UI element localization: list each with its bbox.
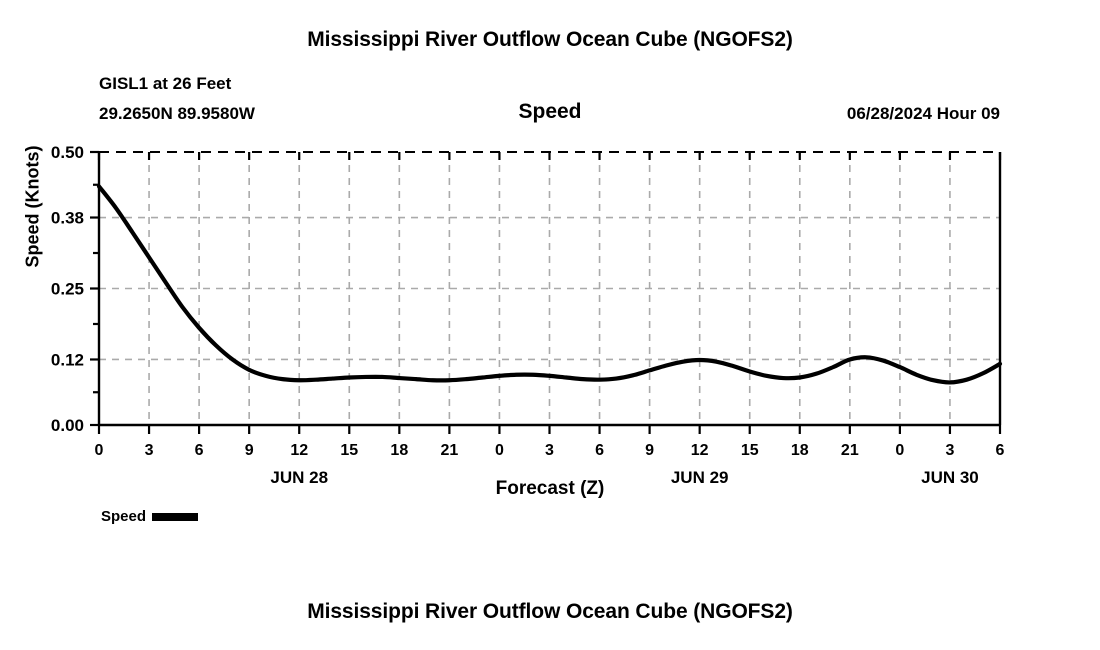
x-tick-label: 12 [290,442,308,459]
y-tick-label: 0.00 [51,416,84,435]
legend-swatch-speed [152,513,198,521]
y-tick-label: 0.50 [51,143,84,162]
x-tick-label: 0 [495,442,504,459]
x-tick-label: 0 [95,442,104,459]
x-tick-label: 21 [440,442,458,459]
x-tick-label: 3 [145,442,154,459]
footer-title: Mississippi River Outflow Ocean Cube (NG… [0,600,1100,624]
x-tick-label: 15 [741,442,759,459]
y-tick-label: 0.25 [51,280,84,299]
x-tick-label: 18 [791,442,809,459]
y-axis-ticks: 0.000.120.250.380.50 [51,143,99,435]
x-tick-label: 6 [195,442,204,459]
x-tick-label: 21 [841,442,859,459]
x-tick-label: 3 [945,442,954,459]
x-tick-label: 0 [895,442,904,459]
x-tick-label: 3 [545,442,554,459]
y-tick-label: 0.12 [51,350,84,369]
y-tick-label: 0.38 [51,209,84,228]
x-tick-label: 9 [645,442,654,459]
plot-area: 0.000.120.250.380.50 0369121518210369121… [0,0,1100,560]
chart-legend: Speed [101,508,198,525]
x-tick-label: 18 [390,442,408,459]
x-tick-label: 6 [996,442,1005,459]
chart-page: Mississippi River Outflow Ocean Cube (NG… [0,0,1100,650]
speed-line-chart: 0.000.120.250.380.50 0369121518210369121… [0,0,1100,560]
x-tick-label: 12 [691,442,709,459]
legend-label: Speed [101,508,146,525]
grid-lines [99,152,1000,425]
x-tick-label: 15 [340,442,358,459]
x-tick-label: 6 [595,442,604,459]
x-axis-title: Forecast (Z) [0,478,1100,500]
x-tick-label: 9 [245,442,254,459]
